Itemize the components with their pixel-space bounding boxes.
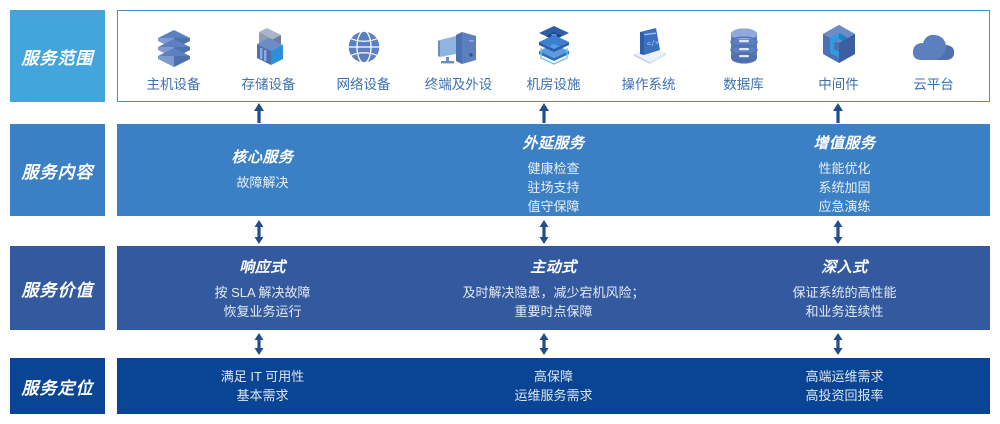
- row-label-text: 服务定位: [22, 374, 94, 399]
- scope-item-datacenter[interactable]: 机房设施: [506, 3, 601, 101]
- scope-item-label: 网络设备: [337, 73, 391, 93]
- service-positioning-band: 满足 IT 可用性 基本需求 高保障 运维服务需求 高端运维需求 高投资回报率: [117, 358, 990, 414]
- connector-arrow-both2-center: [537, 333, 551, 355]
- scope-item-terminal[interactable]: 终端及外设: [411, 3, 506, 101]
- column-line: 保证系统的高性能: [792, 283, 896, 302]
- column-line: 基本需求: [236, 386, 288, 405]
- column-line: 故障解决: [236, 173, 288, 192]
- scope-item-host[interactable]: 主机设备: [126, 3, 221, 101]
- scope-item-label: 终端及外设: [425, 73, 493, 93]
- scope-item-label: 机房设施: [527, 73, 581, 93]
- globe-network-icon: [343, 22, 385, 68]
- column-line: 重要时点保障: [514, 302, 592, 321]
- column-line: 满足 IT 可用性: [221, 367, 305, 386]
- svg-text:</>: </>: [646, 39, 660, 48]
- connector-arrow-both2-right: [831, 333, 845, 355]
- scope-item-label: 操作系统: [622, 73, 676, 93]
- connector-arrow-up-center: [537, 103, 551, 123]
- scope-item-label: 数据库: [723, 73, 764, 93]
- scope-item-label: 中间件: [818, 73, 859, 93]
- column-line: 应急演练: [818, 197, 870, 216]
- scope-item-cloud[interactable]: 云平台: [886, 3, 981, 101]
- service-value-band: 响应式 按 SLA 解决故障 恢复业务运行 主动式 及时解决隐患，减少宕机风险；…: [117, 246, 990, 330]
- column-title: 核心服务: [231, 146, 293, 167]
- row-label-text: 服务内容: [22, 158, 94, 183]
- desktop-pc-icon: [436, 22, 482, 68]
- scope-item-database[interactable]: 数据库: [696, 3, 791, 101]
- scope-item-network[interactable]: 网络设备: [316, 3, 411, 101]
- column-title: 增值服务: [813, 132, 875, 153]
- column-line: 高端运维需求: [805, 367, 883, 386]
- content-column-extended[interactable]: 外延服务 健康检查 驻场支持 值守保障: [408, 124, 699, 216]
- middleware-cube-icon: [817, 22, 861, 68]
- row-label-service-value: 服务价值: [10, 246, 105, 330]
- row-label-service-scope: 服务范围: [10, 10, 105, 102]
- os-laptop-code-icon: </>: [626, 22, 672, 68]
- service-content-band: 核心服务 故障解决 外延服务 健康检查 驻场支持 值守保障 增值服务 性能优化 …: [117, 124, 990, 216]
- row-service-value: 服务价值 响应式 按 SLA 解决故障 恢复业务运行 主动式 及时解决隐患，减少…: [0, 246, 1000, 330]
- scope-item-storage[interactable]: 存储设备: [221, 3, 316, 101]
- scope-item-label: 存储设备: [242, 73, 296, 93]
- connector-arrow-both2-left: [252, 333, 266, 355]
- row-label-text: 服务范围: [22, 44, 94, 69]
- scope-item-label: 云平台: [913, 73, 954, 93]
- column-line: 按 SLA 解决故障: [214, 283, 310, 302]
- scope-item-middleware[interactable]: 中间件: [791, 3, 886, 101]
- content-column-core[interactable]: 核心服务 故障解决: [117, 124, 408, 216]
- value-column-reactive[interactable]: 响应式 按 SLA 解决故障 恢复业务运行: [117, 246, 408, 330]
- column-line: 健康检查: [527, 159, 579, 178]
- scope-item-os[interactable]: </> 操作系统: [601, 3, 696, 101]
- server-stack-icon: [152, 22, 196, 68]
- positioning-column-assurance[interactable]: 高保障 运维服务需求: [408, 358, 699, 414]
- storage-array-icon: [247, 22, 291, 68]
- column-line: 及时解决隐患，减少宕机风险；: [462, 283, 644, 302]
- service-scope-band: 主机设备: [117, 10, 990, 102]
- row-label-service-positioning: 服务定位: [10, 358, 105, 414]
- value-column-proactive[interactable]: 主动式 及时解决隐患，减少宕机风险； 重要时点保障: [408, 246, 699, 330]
- database-cylinder-icon: [724, 22, 764, 68]
- connector-arrow-both-center: [537, 220, 551, 244]
- column-line: 运维服务需求: [514, 386, 592, 405]
- column-line: 系统加固: [818, 178, 870, 197]
- column-title: 深入式: [821, 256, 868, 277]
- row-service-scope: 服务范围: [0, 10, 1000, 102]
- data-center-icon: [531, 22, 577, 68]
- column-title: 响应式: [239, 256, 286, 277]
- row-label-service-content: 服务内容: [10, 124, 105, 216]
- cloud-icon: [910, 22, 958, 68]
- connector-arrow-both-left: [252, 220, 266, 244]
- scope-item-label: 主机设备: [147, 73, 201, 93]
- connector-arrow-both-right: [831, 220, 845, 244]
- column-line: 恢复业务运行: [223, 302, 301, 321]
- value-column-deep[interactable]: 深入式 保证系统的高性能 和业务连续性: [699, 246, 990, 330]
- diagram-canvas: 服务范围: [0, 0, 1000, 424]
- connector-arrow-up-right: [831, 103, 845, 123]
- row-label-text: 服务价值: [22, 276, 94, 301]
- content-column-valueadd[interactable]: 增值服务 性能优化 系统加固 应急演练: [699, 124, 990, 216]
- column-line: 驻场支持: [527, 178, 579, 197]
- positioning-column-basic[interactable]: 满足 IT 可用性 基本需求: [117, 358, 408, 414]
- row-service-content: 服务内容 核心服务 故障解决 外延服务 健康检查 驻场支持 值守保障 增值服务 …: [0, 124, 1000, 216]
- column-line: 和业务连续性: [805, 302, 883, 321]
- column-line: 性能优化: [818, 159, 870, 178]
- positioning-column-highend[interactable]: 高端运维需求 高投资回报率: [699, 358, 990, 414]
- column-line: 值守保障: [527, 197, 579, 216]
- connector-arrow-up-left: [252, 103, 266, 123]
- column-line: 高保障: [534, 367, 573, 386]
- row-service-positioning: 服务定位 满足 IT 可用性 基本需求 高保障 运维服务需求 高端运维需求 高投…: [0, 358, 1000, 414]
- column-title: 主动式: [530, 256, 577, 277]
- column-title: 外延服务: [522, 132, 584, 153]
- column-line: 高投资回报率: [805, 386, 883, 405]
